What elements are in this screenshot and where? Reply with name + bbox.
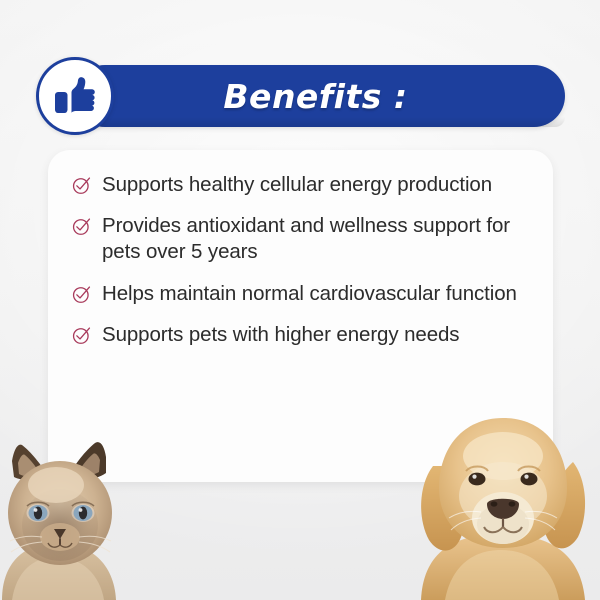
check-circle-icon: [72, 326, 91, 345]
golden-retriever-dog-photo: [411, 400, 596, 600]
list-item: Supports pets with higher energy needs: [72, 322, 537, 348]
thumbs-up-icon: [53, 75, 97, 117]
check-circle-icon: [72, 176, 91, 195]
check-circle-icon: [72, 285, 91, 304]
list-item: Helps maintain normal cardiovascular fun…: [72, 281, 537, 307]
check-circle-icon: [72, 217, 91, 236]
benefit-text: Provides antioxidant and wellness suppor…: [102, 213, 537, 265]
benefits-list: Supports healthy cellular energy product…: [72, 172, 537, 348]
list-item: Supports healthy cellular energy product…: [72, 172, 537, 198]
benefits-card-inner: Supports healthy cellular energy product…: [72, 172, 537, 348]
benefit-text: Supports pets with higher energy needs: [102, 322, 459, 348]
benefit-text: Supports healthy cellular energy product…: [102, 172, 492, 198]
list-item: Provides antioxidant and wellness suppor…: [72, 213, 537, 265]
siamese-cat-photo: [0, 425, 154, 600]
benefit-text: Helps maintain normal cardiovascular fun…: [102, 281, 517, 307]
benefits-poster: Benefits :: [0, 0, 600, 600]
benefits-banner: Benefits :: [36, 57, 565, 135]
page-title: Benefits :: [74, 65, 565, 127]
thumbs-up-badge: [36, 57, 114, 135]
